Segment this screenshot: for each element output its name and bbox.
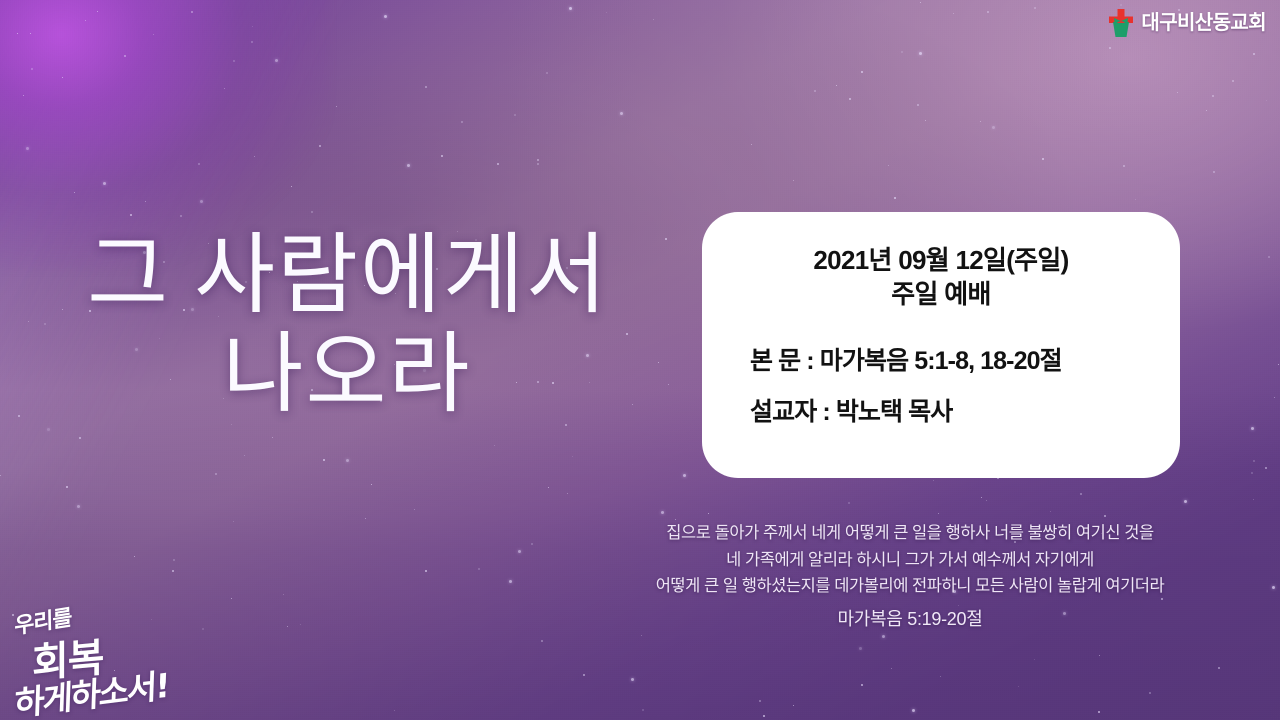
- ministry-slogan: 우리를 회복 하게하소서!: [8, 602, 198, 712]
- church-name-label: 대구비산동교회: [1141, 13, 1266, 33]
- preacher-row: 설교자 : 박노택 목사: [750, 399, 1144, 427]
- scripture-passage-row: 본 문 : 마가복음 5:1-8, 18-20절: [750, 348, 1144, 376]
- scripture-line-3: 어떻게 큰 일 행하셨는지를 데가볼리에 전파하니 모든 사람이 놀랍게 여기더…: [560, 573, 1260, 600]
- scripture-passage-value: 마가복음 5:1-8, 18-20절: [820, 347, 1062, 375]
- service-name: 주일 예배: [738, 278, 1144, 312]
- service-date-group: 2021년 09월 12일(주일) 주일 예배: [738, 244, 1144, 312]
- scripture-line-2: 네 가족에게 알리라 하시니 그가 가서 예수께서 자기에게: [560, 547, 1260, 574]
- sermon-title-line-1: 그 사람에게서: [6, 228, 690, 327]
- scripture-line-1: 집으로 돌아가 주께서 네게 어떻게 큰 일을 행하사 너를 불쌍히 여기신 것…: [560, 520, 1260, 547]
- scripture-text: 집으로 돌아가 주께서 네게 어떻게 큰 일을 행하사 너를 불쌍히 여기신 것…: [560, 520, 1260, 600]
- sermon-title: 그 사람에게서 나오라: [0, 228, 690, 425]
- preacher-value: 박노택 목사: [836, 398, 953, 426]
- service-info-card: 2021년 09월 12일(주일) 주일 예배 본 문 : 마가복음 5:1-8…: [702, 212, 1180, 478]
- sermon-slide: 대구비산동교회 그 사람에게서 나오라 2021년 09월 12일(주일) 주일…: [0, 0, 1280, 720]
- scripture-reference: 마가복음 5:19-20절: [560, 605, 1260, 631]
- scripture-passage-label: 본 문 :: [750, 347, 814, 375]
- sermon-title-line-2: 나오라: [4, 327, 690, 426]
- preacher-label: 설교자 :: [750, 398, 830, 426]
- church-logo: 대구비산동교회: [1108, 8, 1266, 38]
- cross-icon: [1108, 8, 1134, 38]
- service-date: 2021년 09월 12일(주일): [738, 244, 1144, 278]
- service-detail-rows: 본 문 : 마가복음 5:1-8, 18-20절 설교자 : 박노택 목사: [738, 348, 1144, 427]
